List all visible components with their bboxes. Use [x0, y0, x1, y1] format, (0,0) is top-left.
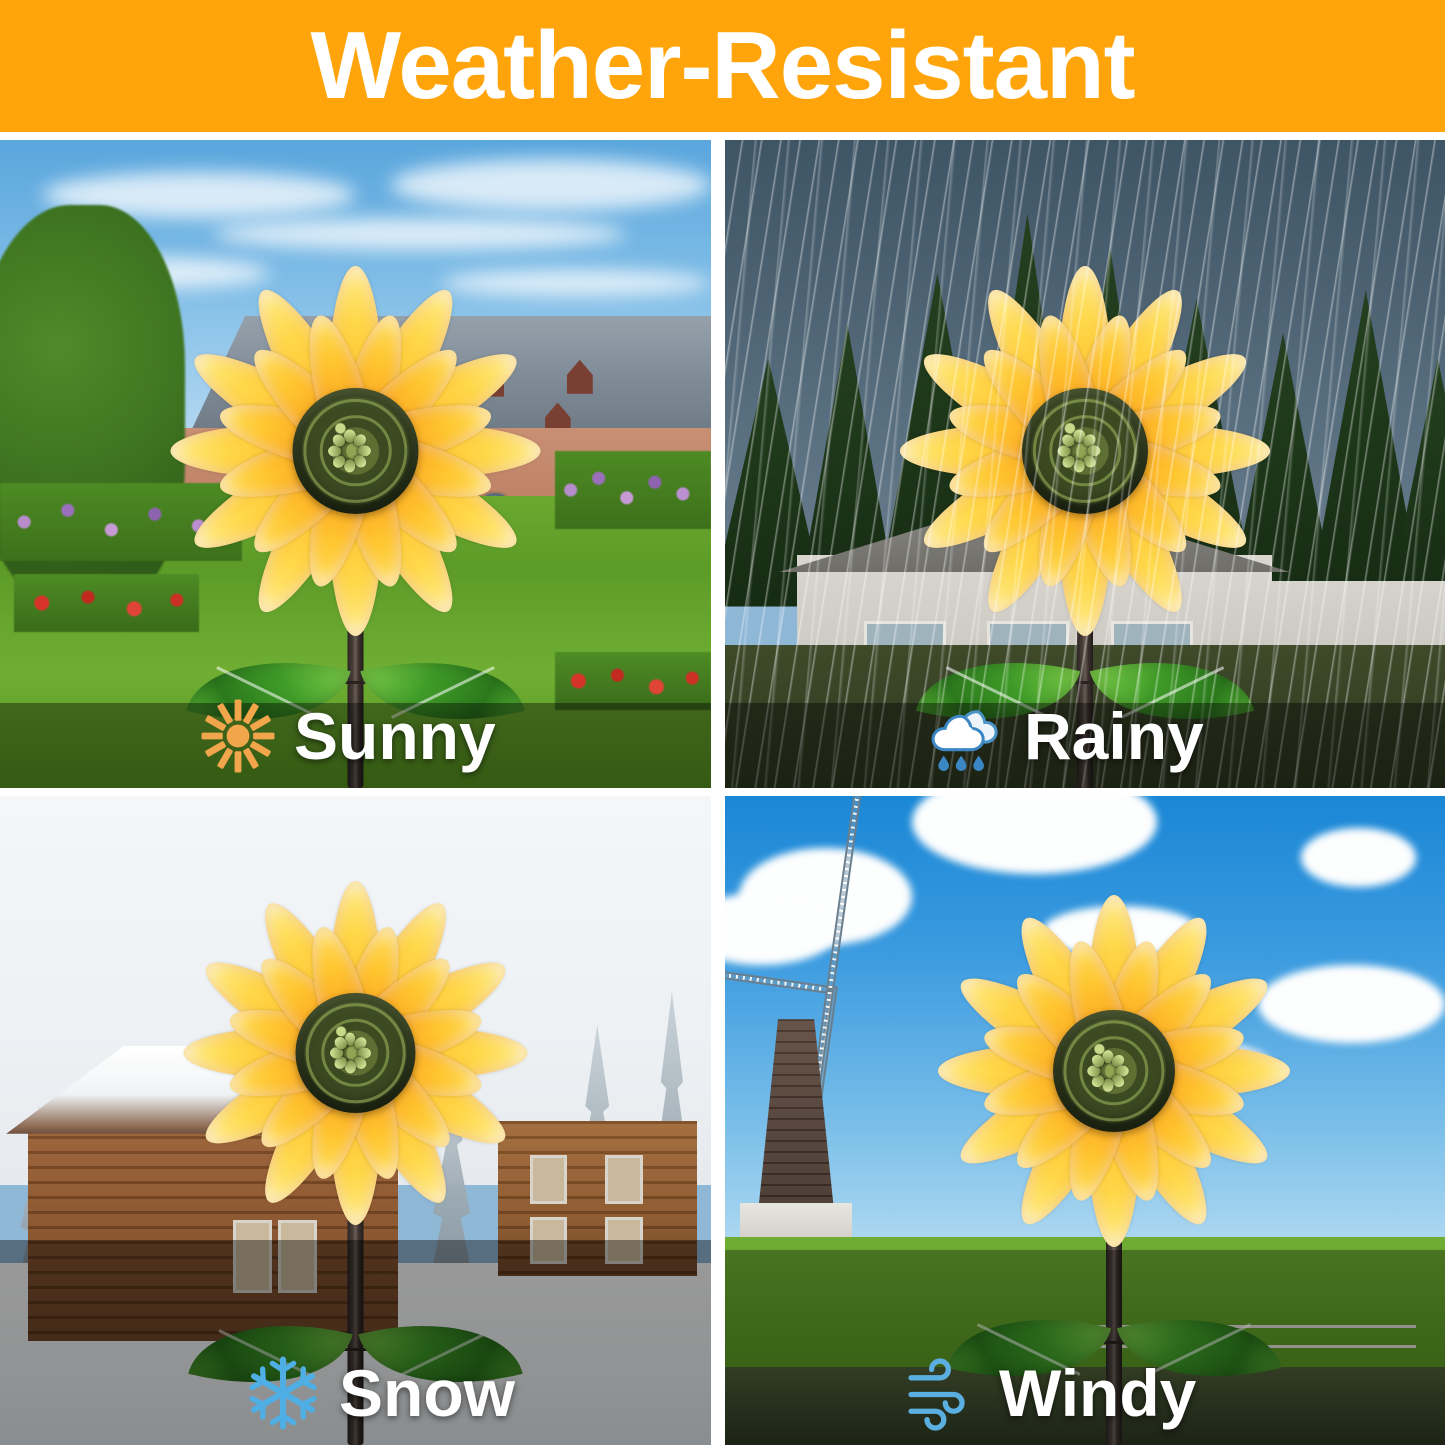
quadrant-sunny[interactable]: Sunny: [0, 140, 711, 788]
scene-rainy: Rainy: [725, 140, 1445, 788]
weather-resistant-infographic: Weather-Resistant: [0, 0, 1445, 1445]
header-banner: Weather-Resistant: [0, 0, 1445, 132]
quadrant-rainy[interactable]: Rainy: [725, 140, 1445, 788]
flower-center-disc: [1022, 388, 1148, 514]
sunflower-wind-spinner: [725, 140, 1445, 788]
sun-icon: [200, 698, 276, 774]
rain-cloud-icon: [930, 698, 1006, 774]
sunflower-bloom: [904, 861, 1324, 1281]
quadrant-windy[interactable]: Windy: [725, 796, 1445, 1445]
scene-windy: Windy: [725, 796, 1445, 1445]
scene-sunny: Sunny: [0, 140, 711, 788]
wind-icon: [905, 1355, 981, 1431]
scene-snow: Snow: [0, 796, 711, 1445]
flower-center-disc: [1053, 1010, 1175, 1132]
weather-label-text: Rainy: [1024, 703, 1204, 769]
weather-label-text: Sunny: [294, 703, 496, 769]
weather-label-text: Windy: [999, 1360, 1196, 1426]
sunflower-bloom: [865, 231, 1305, 671]
quadrant-snow[interactable]: Snow: [0, 796, 711, 1445]
sunflower-wind-spinner: [0, 140, 711, 788]
weather-label-text: Snow: [339, 1360, 515, 1426]
page-title: Weather-Resistant: [310, 18, 1134, 114]
quadrant-grid: Sunny: [0, 140, 1445, 1445]
flower-center-disc: [296, 993, 416, 1113]
sunflower-bloom: [151, 848, 561, 1258]
weather-label-snow: Snow: [245, 1355, 515, 1431]
flower-center-disc: [293, 388, 419, 514]
weather-label-rainy: Rainy: [930, 698, 1204, 774]
snowflake-icon: [245, 1355, 321, 1431]
sunflower-bloom: [136, 231, 576, 671]
weather-label-sunny: Sunny: [200, 698, 496, 774]
weather-label-windy: Windy: [905, 1355, 1196, 1431]
